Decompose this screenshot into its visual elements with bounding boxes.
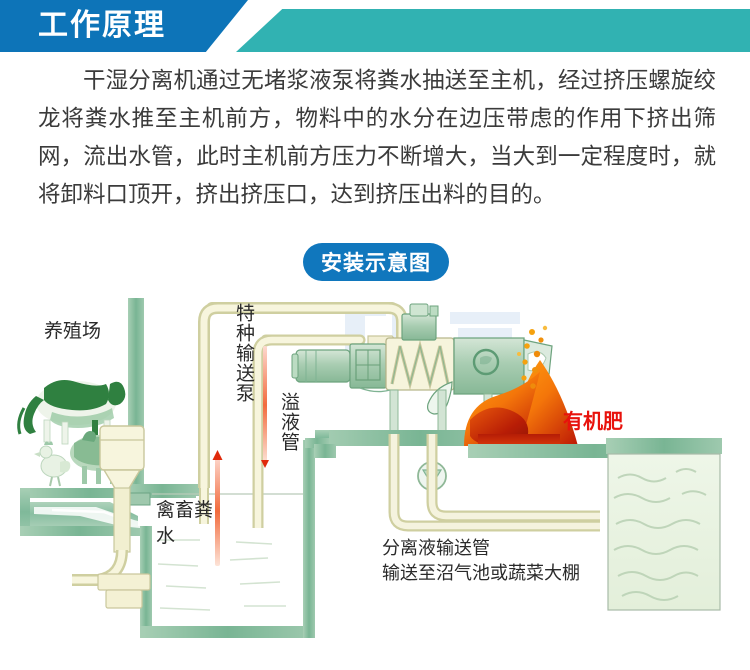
label-organic-fertilizer: 有机肥 <box>563 405 623 434</box>
header-teal-shape <box>236 9 750 52</box>
label-manure-water: 禽畜粪水 <box>156 497 222 549</box>
label-overflow-pipe: 溢液管 <box>276 392 303 452</box>
diagram-svg <box>0 288 750 670</box>
label-separated-liquid-pipe: 分离液输送管输送至沼气池或蔬菜大棚 <box>382 536 580 586</box>
intro-paragraph: 干湿分离机通过无堵浆液泵将粪水抽送至主机，经过挤压螺旋绞龙将粪水推至主机前方，物… <box>38 62 716 214</box>
badge-label: 安装示意图 <box>321 247 431 277</box>
page-title: 工作原理 <box>38 4 166 48</box>
installation-diagram-badge: 安装示意图 <box>303 243 449 281</box>
label-special-pump: 特种输送泵 <box>231 303 258 403</box>
liquid-storage-tank <box>606 438 722 610</box>
installation-diagram <box>0 288 750 670</box>
label-farm: 养殖场 <box>44 316 101 343</box>
